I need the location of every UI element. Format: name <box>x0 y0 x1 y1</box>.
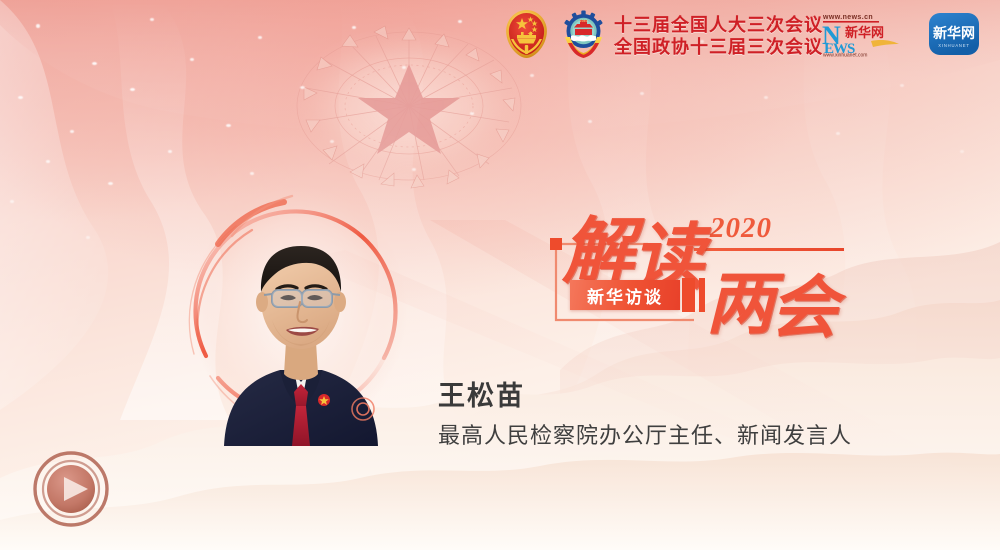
year-label: 2020 <box>710 212 772 245</box>
guest-portrait <box>188 186 410 448</box>
title-artwork: 2020 解 读 两 会 新华访谈 <box>548 196 848 332</box>
title-char-hui: 会 <box>770 252 838 351</box>
title-char-liang: 两 <box>706 248 774 347</box>
play-button[interactable] <box>32 450 110 528</box>
guest-role: 最高人民检察院办公厅主任、新闻发言人 <box>438 418 852 450</box>
meeting-title-line-2: 全国政协十三届三次会议 <box>614 36 823 58</box>
xinhuanet-logo-bottom-url: www.xinhuanet.com <box>823 53 867 58</box>
xinhuanet-logo-top-url: www.news.cn <box>822 14 873 21</box>
svg-text:1949: 1949 <box>580 19 588 23</box>
meeting-title-line-1: 十三届全国人大三次会议 <box>614 14 823 36</box>
app-icon-label-en: XINHUANET <box>938 43 969 48</box>
meeting-title: 十三届全国人大三次会议 全国政协十三届三次会议 <box>614 14 823 58</box>
banner-stage: 1949 十三届全国人大三次会议 全国政协十三届三次会议 www.news.cn… <box>0 0 1000 550</box>
accent-bar-1 <box>682 278 695 312</box>
xinhuanet-logo[interactable]: www.news.cn N EWS 新华网 www.xinhuanet.com <box>821 11 907 57</box>
xinhuanet-logo-wordmark: 新华网 <box>845 25 884 40</box>
app-icon-label-cn: 新华网 <box>933 25 975 41</box>
play-triangle-icon[interactable] <box>32 450 110 528</box>
accent-bar-2 <box>699 278 705 312</box>
emblem-group: 1949 <box>503 9 607 59</box>
national-emblem-of-china-icon <box>503 9 550 59</box>
cppcc-emblem-icon: 1949 <box>560 9 607 59</box>
concentric-circle-decoration <box>348 394 378 424</box>
program-badge[interactable]: 新华访谈 <box>570 280 680 310</box>
xinhuanet-app-icon[interactable]: 新华网 XINHUANET <box>925 11 983 57</box>
program-badge-label: 新华访谈 <box>587 283 663 308</box>
banner-header: 1949 十三届全国人大三次会议 全国政协十三届三次会议 www.news.cn… <box>0 0 1000 72</box>
guest-name: 王松苗 <box>438 374 525 413</box>
